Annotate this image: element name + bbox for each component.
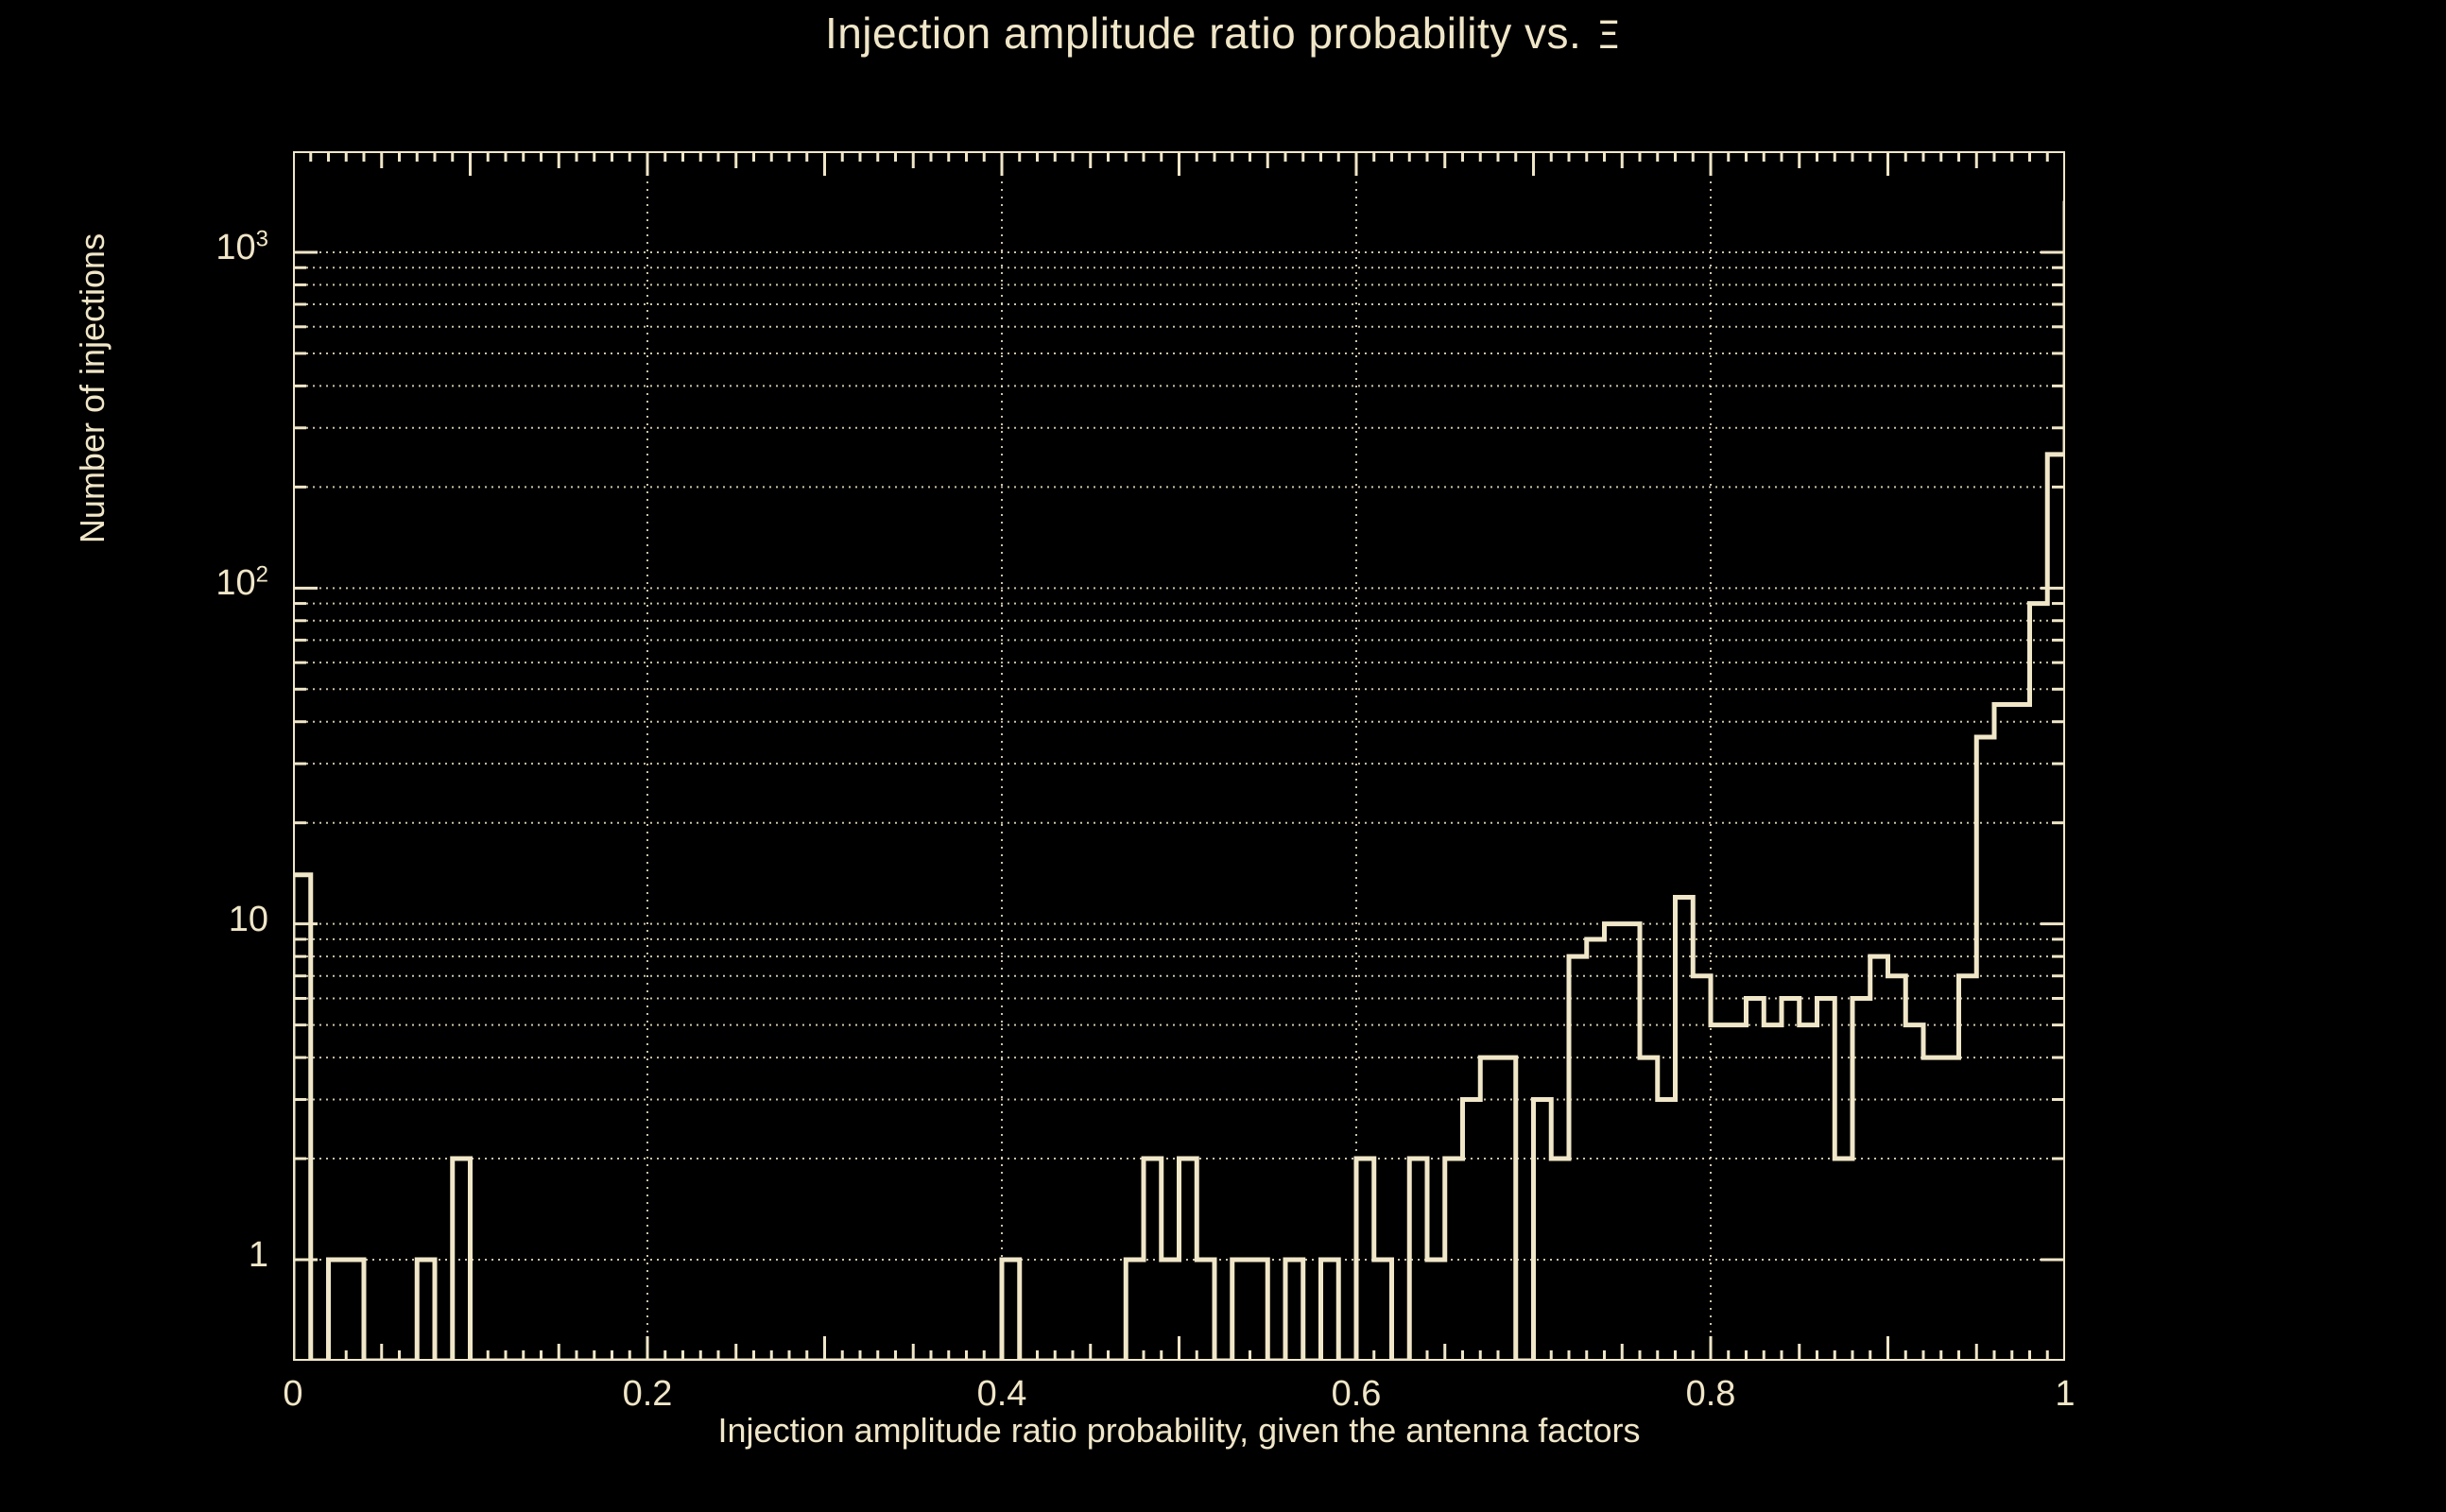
y-tick-label: 103 [215,228,268,268]
histogram-outline [293,203,2065,1361]
x-tick-label: 0.8 [1654,1374,1767,1415]
page-title: Injection amplitude ratio probability vs… [0,8,2446,59]
y-tick-label: 10 [229,900,268,940]
y-tick-label: 1 [249,1235,268,1276]
histogram-svg [293,151,2065,1361]
xi-symbol: Ξ [1581,14,1621,58]
y-axis-title: Number of injections [73,190,112,587]
y-tick-label: 102 [215,563,268,604]
x-tick-label: 0.4 [945,1374,1059,1415]
x-tick-label: 0.2 [591,1374,704,1415]
title-text: Injection amplitude ratio probability vs… [825,9,1581,58]
chart-root: Injection amplitude ratio probability vs… [0,0,2446,1512]
plot-area [293,151,2065,1361]
x-tick-label: 1 [2008,1374,2122,1415]
x-axis-title: Injection amplitude ratio probability, g… [293,1411,2065,1451]
x-tick-label: 0 [236,1374,350,1415]
x-tick-label: 0.6 [1300,1374,1413,1415]
